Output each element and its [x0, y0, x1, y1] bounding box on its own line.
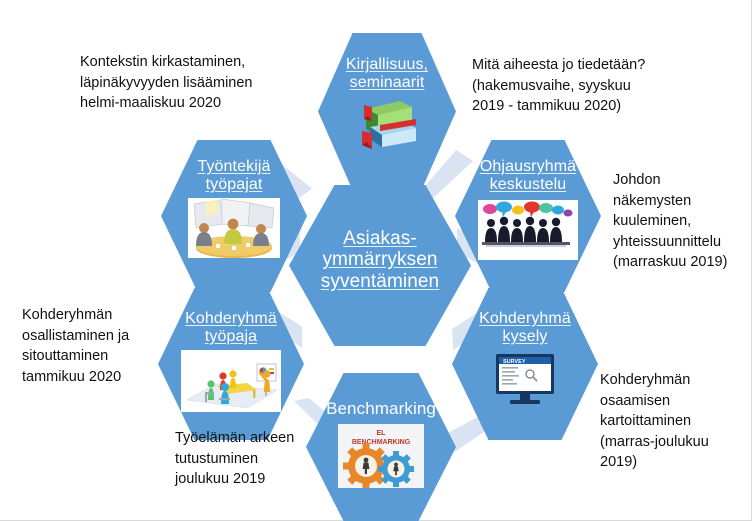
svg-text:BENCHMARKING: BENCHMARKING — [352, 439, 411, 446]
hex-tyontekija-tyopajat[interactable]: Työntekijä työpajat — [161, 140, 307, 292]
roundtable-meeting-icon — [188, 198, 280, 263]
hex-ohjausryhma-keskustelu[interactable]: Ohjausryhmä keskustelu — [455, 140, 601, 292]
hex-kohderyhma-kysely[interactable]: Kohderyhmä kysely SURVEY — [452, 288, 598, 440]
hex-ohjausryhma-label: Ohjausryhmä keskustelu — [480, 158, 576, 194]
hex-tyontekija-label: Työntekijä työpajat — [197, 158, 270, 194]
note-tyontekija-tyopajat: Konteksti­n kirkastaminen, läpinäkyvyyde… — [80, 52, 370, 114]
note-kohderyhma-kysely: Kohderyhmän osaamisen kartoittaminen (ma… — [600, 370, 752, 473]
hex-benchmarking-label: Benchmarking — [326, 399, 436, 418]
hex-kohderyhma-kysely-label: Kohderyhmä kysely — [479, 310, 571, 346]
meeting-silhouettes-icon — [478, 200, 578, 265]
gears-benchmarking-icon: EL BENCHMARKING — [338, 424, 424, 493]
svg-text:SURVEY: SURVEY — [503, 359, 526, 365]
diagram-canvas: Asiakas- ymmärryksen syventäminen Kirjal… — [0, 0, 752, 521]
hex-center-label: Asiakas- ymmärryksen syventäminen — [321, 228, 439, 292]
note-ohjausryhma-keskustelu: Johdon näkemysten kuuleminen, yhteissuun… — [613, 170, 752, 273]
hex-center-asiakasymmarrys[interactable]: Asiakas- ymmärryksen syventäminen — [289, 185, 471, 346]
svg-text:EL: EL — [377, 430, 387, 437]
note-kohderyhma-tyopaja: Työelämän arkeen tutustuminen joulukuu 2… — [175, 428, 350, 490]
note-kirjallisuus-seminaarit: Mitä aiheesta jo tiedetään? (hakemusvaih… — [472, 55, 752, 117]
note-kohderyhma-osallistaminen: Kohderyhmän osallistaminen ja sitouttami… — [22, 305, 202, 387]
survey-monitor-icon: SURVEY — [492, 352, 558, 413]
